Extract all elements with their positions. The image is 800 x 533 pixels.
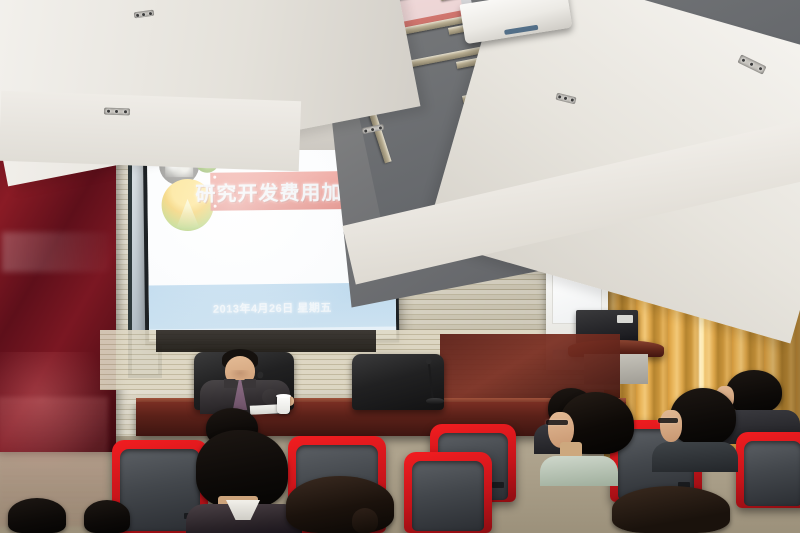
band-corner-dot bbox=[213, 176, 216, 179]
equipment-label bbox=[617, 315, 633, 323]
audience-head bbox=[84, 500, 130, 533]
audience-face bbox=[660, 410, 682, 442]
ponytail bbox=[352, 508, 378, 533]
audience-shirt bbox=[540, 456, 618, 486]
paper-cup bbox=[277, 396, 290, 414]
eyeglasses-icon bbox=[546, 420, 568, 425]
band-corner-dot bbox=[214, 205, 217, 208]
ceiling-spotlight-icon bbox=[104, 108, 130, 116]
wall-dark-panel bbox=[156, 330, 376, 352]
conference-room-photograph: 研究开发费用加计扣除 2013年4月26日 星期五 bbox=[0, 0, 800, 533]
audience-head bbox=[8, 498, 66, 533]
seat-cushion bbox=[744, 441, 800, 506]
eyeglasses-icon bbox=[658, 418, 678, 423]
microphone-base bbox=[426, 398, 444, 404]
ceiling: 研究开发费用加计扣除 bbox=[0, 0, 800, 150]
documents-on-table bbox=[250, 404, 280, 415]
audience-head-ponytail bbox=[612, 486, 730, 533]
seat-cushion bbox=[412, 461, 484, 531]
audience-seat[interactable] bbox=[404, 452, 492, 533]
ceiling-soffit-lower-left bbox=[0, 91, 301, 171]
seat-tag bbox=[492, 482, 504, 488]
audience-seat[interactable] bbox=[736, 432, 800, 508]
audience-shoulders bbox=[652, 442, 738, 472]
